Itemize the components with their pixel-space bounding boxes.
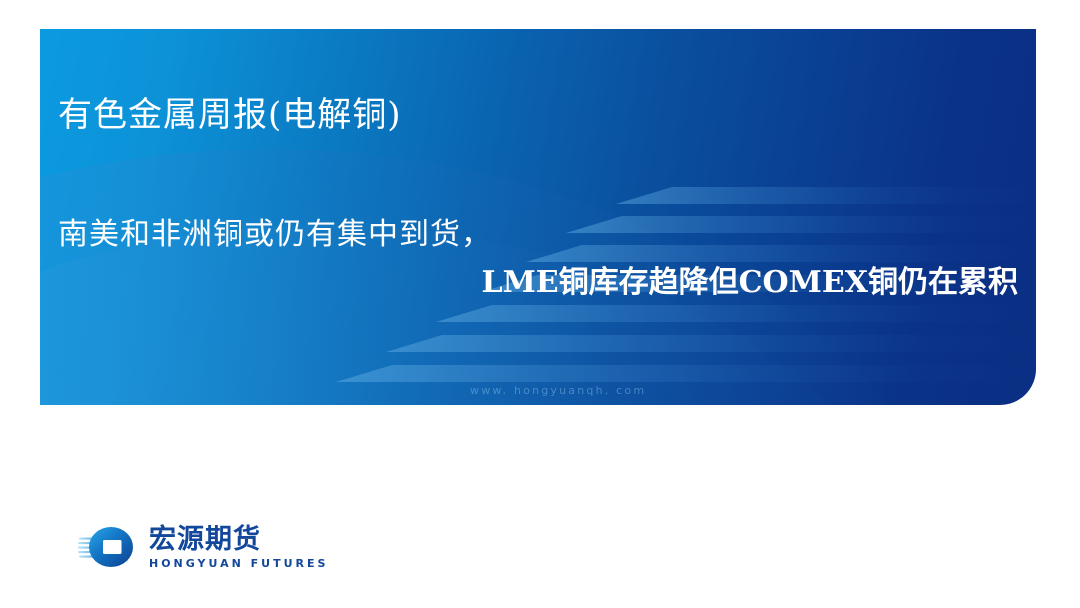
cover-banner: 有色金属周报(电解铜) 南美和非洲铜或仍有集中到货， LME铜库存趋降但COME… [40,29,1036,405]
company-name-cn: 宏源期货 [149,526,261,554]
report-subtitle-line-1: 南美和非洲铜或仍有集中到货， [58,209,492,253]
report-title: 有色金属周报(电解铜) [58,87,402,136]
logo-wordmark: 宏源期货 HONGYUAN FUTURES [149,524,328,570]
report-subtitle-line-2: LME铜库存趋降但COMEX铜仍在累积 [40,257,1036,301]
banner-text-block: 有色金属周报(电解铜) 南美和非洲铜或仍有集中到货， LME铜库存趋降但COME… [40,29,1036,405]
website-watermark: www. hongyuanqh. com [470,384,646,397]
company-name-en: HONGYUAN FUTURES [149,557,328,570]
hongyuan-ellipse-mark-icon [78,524,138,570]
company-logo: 宏源期货 HONGYUAN FUTURES [78,524,328,570]
